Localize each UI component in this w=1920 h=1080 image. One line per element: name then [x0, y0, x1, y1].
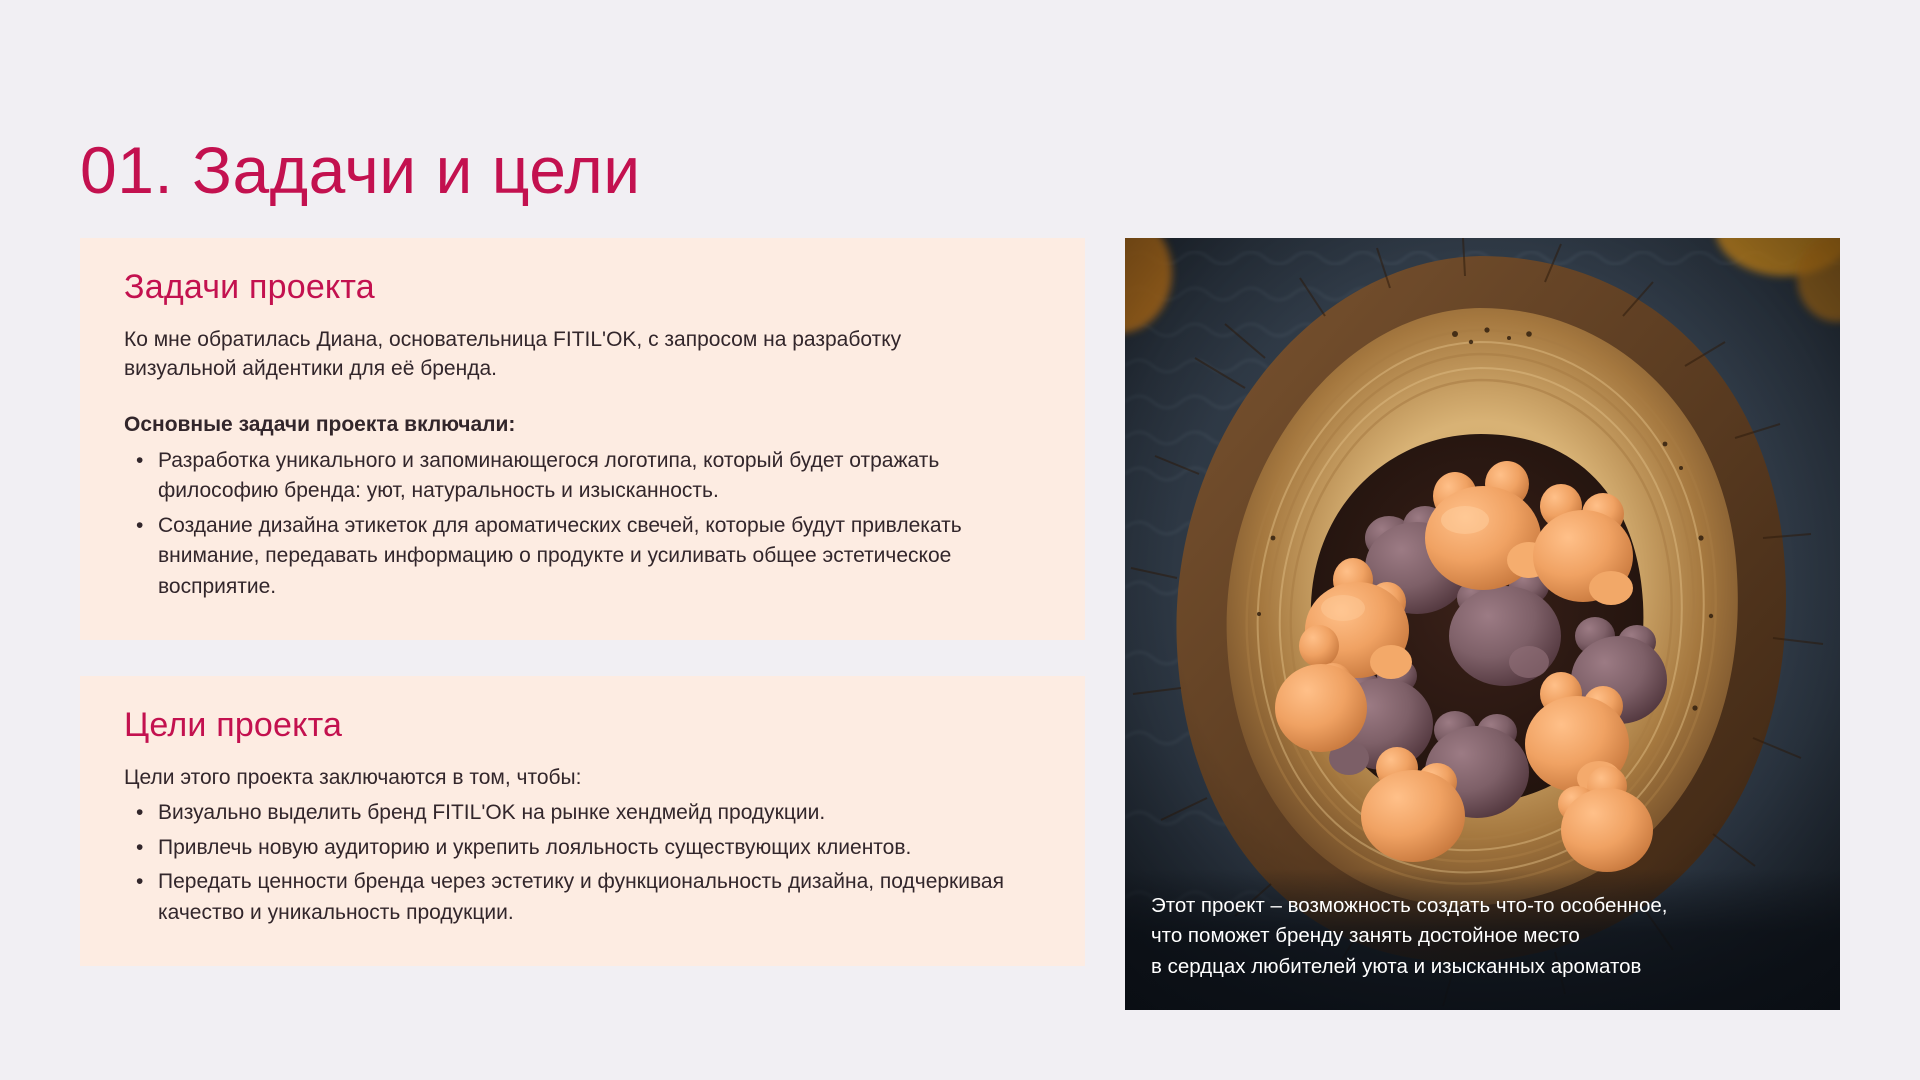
list-item: Визуально выделить бренд FITIL'OK на рын…: [124, 798, 1038, 828]
card-goals-bullet-list: Визуально выделить бренд FITIL'OK на рын…: [124, 798, 1041, 928]
card-tasks-title: Задачи проекта: [124, 266, 1041, 309]
card-tasks: Задачи проекта Ко мне обратилась Диана, …: [80, 238, 1085, 640]
photo-caption-line-2: что поможет бренду занять достойное мест…: [1151, 921, 1814, 951]
card-tasks-subheading: Основные задачи проекта включали:: [124, 410, 1041, 440]
list-item: Разработка уникального и запоминающегося…: [124, 446, 1038, 507]
product-photo: Этот проект – возможность создать что-то…: [1125, 238, 1840, 1010]
card-goals-paragraph: Цели этого проекта заключаются в том, чт…: [124, 763, 1004, 793]
photo-caption-line-3: в сердцах любителей уюта и изысканных ар…: [1151, 952, 1814, 982]
card-tasks-bullet-list: Разработка уникального и запоминающегося…: [124, 446, 1041, 602]
list-item: Создание дизайна этикеток для ароматичес…: [124, 511, 1038, 602]
card-goals: Цели проекта Цели этого проекта заключаю…: [80, 676, 1085, 966]
list-item: Передать ценности бренда через эстетику …: [124, 867, 1038, 928]
content-column: Задачи проекта Ко мне обратилась Диана, …: [80, 238, 1085, 966]
photo-caption-line-1: Этот проект – возможность создать что-то…: [1151, 891, 1814, 921]
photo-caption: Этот проект – возможность создать что-то…: [1125, 869, 1840, 1010]
page-title: 01. Задачи и цели: [80, 136, 641, 205]
list-item: Привлечь новую аудиторию и укрепить лоял…: [124, 833, 1038, 863]
card-goals-title: Цели проекта: [124, 704, 1041, 747]
card-tasks-paragraph: Ко мне обратилась Диана, основательница …: [124, 325, 1004, 385]
